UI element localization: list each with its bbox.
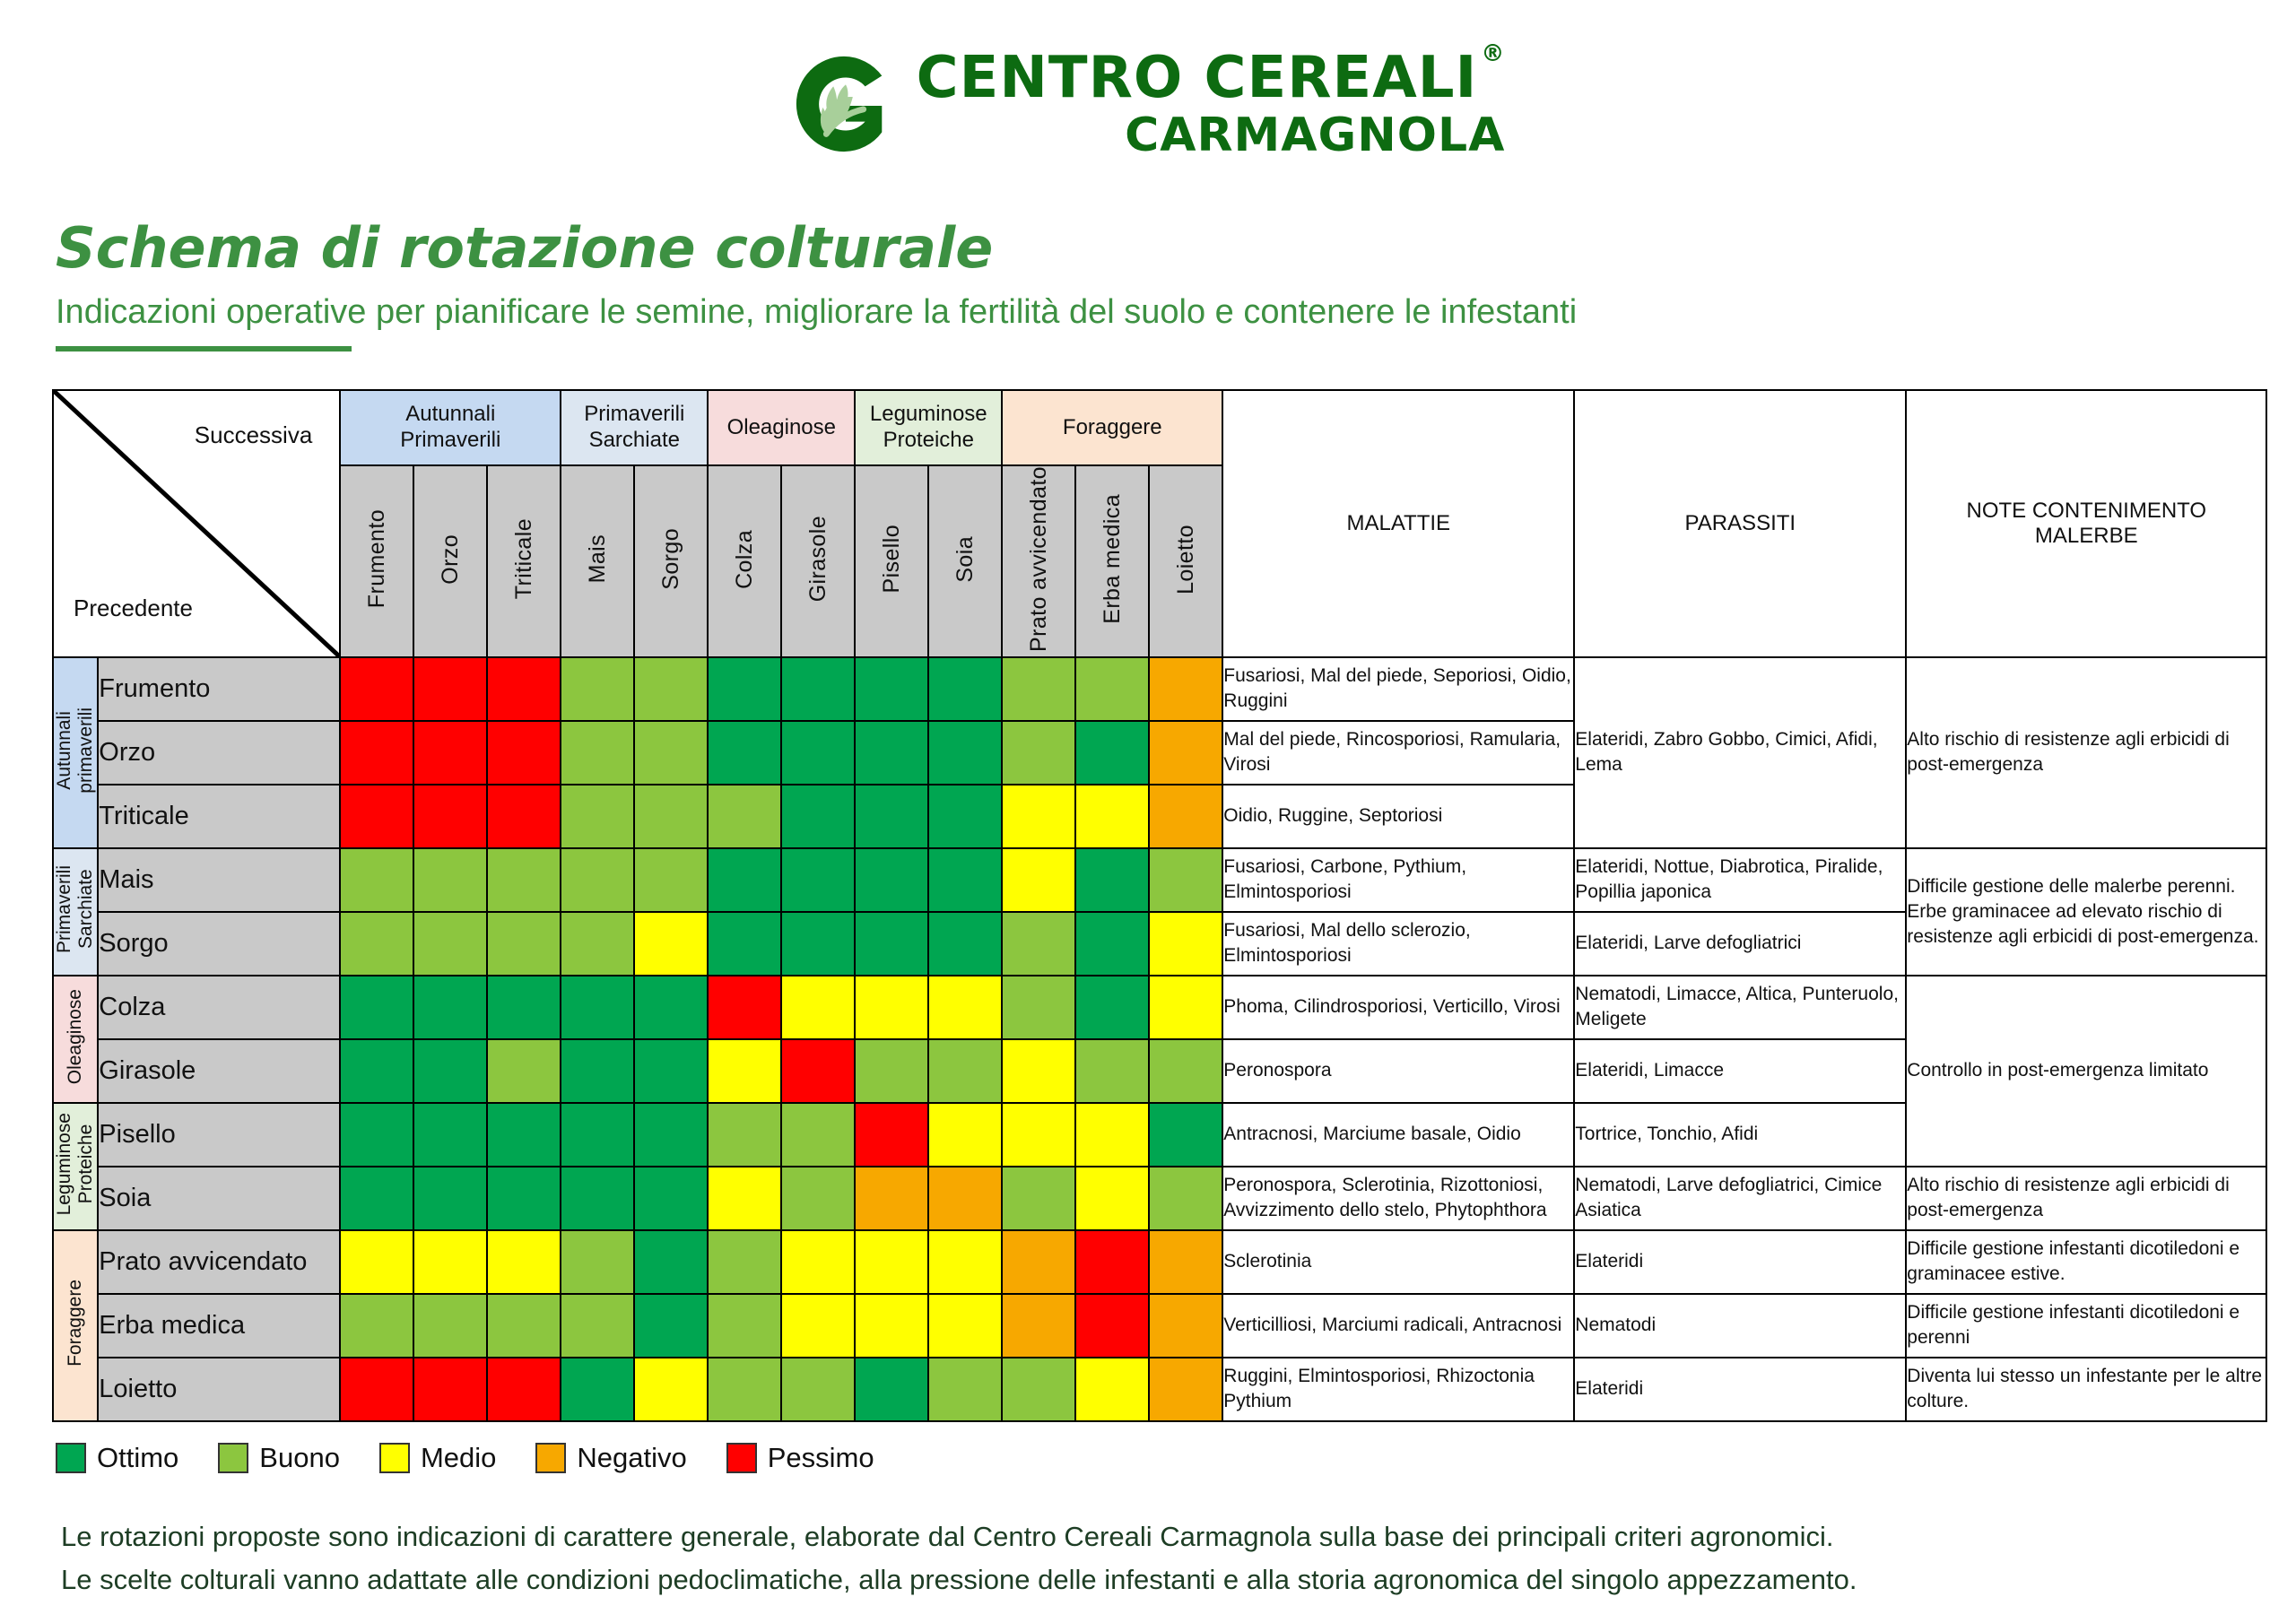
matrix-cell[interactable] [781,721,855,785]
matrix-cell[interactable] [708,785,781,848]
legend-item-ottimo: Ottimo [56,1442,178,1474]
matrix-cell[interactable] [561,1167,634,1230]
rotation-matrix-table: SuccessivaPrecedenteAutunnaliPrimaverili… [52,389,2267,1422]
parassiti-cell: Elateridi, Larve defogliatrici [1574,912,1906,976]
matrix-cell[interactable] [708,1358,781,1421]
matrix-cell[interactable] [1002,848,1075,912]
row-group-header: Oleaginose [53,976,98,1103]
legend-swatch-pessimo [726,1443,757,1473]
note-malerbe-cell: Difficile gestione infestanti dicotiledo… [1906,1294,2266,1358]
matrix-cell[interactable] [928,912,1002,976]
matrix-cell[interactable] [1149,1294,1222,1358]
page-subtitle: Indicazioni operative per pianificare le… [56,293,1577,332]
column-header-label: Frumento [364,509,390,608]
brand-name-line2: CARMAGNOLA [917,112,1506,159]
matrix-cell[interactable] [1002,1230,1075,1294]
matrix-cell[interactable] [855,848,928,912]
malattie-cell: Oidio, Ruggine, Septoriosi [1222,785,1574,848]
row-group-label: PrimaveriliSarchiate [54,865,97,953]
row-group-header: Foraggere [53,1230,98,1421]
matrix-cell[interactable] [340,912,413,976]
matrix-cell[interactable] [340,976,413,1039]
note-malerbe-column-header: NOTE CONTENIMENTOMALERBE [1906,390,2266,657]
column-header-label: Pisello [879,525,905,593]
matrix-cell[interactable] [1002,1167,1075,1230]
malattie-cell: Fusariosi, Mal dello sclerozio, Elmintos… [1222,912,1574,976]
matrix-cell[interactable] [561,912,634,976]
note-malerbe-cell: Alto rischio di resistenze agli erbicidi… [1906,657,2266,848]
row-label-loietto: Loietto [98,1358,340,1421]
parassiti-cell: Elateridi, Nottue, Diabrotica, Piralide,… [1574,848,1906,912]
note-malerbe-cell: Alto rischio di resistenze agli erbicidi… [1906,1167,2266,1230]
matrix-cell[interactable] [1075,912,1149,976]
matrix-cell[interactable] [928,1230,1002,1294]
matrix-cell[interactable] [781,657,855,721]
matrix-cell[interactable] [928,721,1002,785]
legend-swatch-buono [218,1443,248,1473]
row-group-label: Oleaginose [65,989,86,1084]
matrix-cell[interactable] [928,1103,1002,1167]
matrix-cell[interactable] [855,912,928,976]
matrix-cell[interactable] [781,848,855,912]
footnote-line-1: Le rotazioni proposte sono indicazioni d… [61,1515,1857,1558]
footnote: Le rotazioni proposte sono indicazioni d… [61,1515,1857,1601]
matrix-cell[interactable] [781,1167,855,1230]
parassiti-column-header: PARASSITI [1574,390,1906,657]
matrix-cell[interactable] [855,976,928,1039]
matrix-cell[interactable] [928,976,1002,1039]
matrix-cell[interactable] [781,976,855,1039]
matrix-cell[interactable] [855,1039,928,1103]
matrix-cell[interactable] [781,1103,855,1167]
matrix-cell[interactable] [561,1103,634,1167]
matrix-cell[interactable] [487,721,561,785]
parassiti-cell: Nematodi [1574,1294,1906,1358]
matrix-cell[interactable] [634,785,708,848]
table-row: ForaggerePrato avvicendatoSclerotiniaEla… [53,1230,2266,1294]
malattie-cell: Sclerotinia [1222,1230,1574,1294]
note-malerbe-cell: Difficile gestione delle malerbe perenni… [1906,848,2266,976]
matrix-cell[interactable] [1002,1039,1075,1103]
matrix-cell[interactable] [413,1294,487,1358]
matrix-cell[interactable] [781,912,855,976]
parassiti-cell: Nematodi, Limacce, Altica, Punteruolo, M… [1574,976,1906,1039]
column-header-prato-avvicendato: Prato avvicendato [1002,465,1075,657]
matrix-cell[interactable] [413,1358,487,1421]
column-group-header: Oleaginose [708,390,855,465]
column-header-label: Orzo [438,534,464,585]
matrix-cell[interactable] [855,657,928,721]
axis-label-precedente: Precedente [74,595,193,622]
matrix-cell[interactable] [340,1167,413,1230]
matrix-cell[interactable] [1075,657,1149,721]
table-row: PrimaveriliSarchiateMaisFusariosi, Carbo… [53,848,2266,912]
parassiti-cell: Tortrice, Tonchio, Afidi [1574,1103,1906,1167]
column-header-erba-medica: Erba medica [1075,465,1149,657]
matrix-cell[interactable] [413,912,487,976]
matrix-cell[interactable] [781,1230,855,1294]
matrix-cell[interactable] [487,1230,561,1294]
matrix-cell[interactable] [708,848,781,912]
column-header-label: Loietto [1173,525,1199,595]
matrix-cell[interactable] [1149,1358,1222,1421]
matrix-cell[interactable] [1149,976,1222,1039]
matrix-cell[interactable] [1075,1039,1149,1103]
column-header-loietto: Loietto [1149,465,1222,657]
matrix-cell[interactable] [340,785,413,848]
matrix-cell[interactable] [1002,976,1075,1039]
matrix-cell[interactable] [708,912,781,976]
matrix-cell[interactable] [1149,1039,1222,1103]
header-row-groups: SuccessivaPrecedenteAutunnaliPrimaverili… [53,390,2266,465]
matrix-cell[interactable] [340,721,413,785]
note-malerbe-cell: Controllo in post-emergenza limitato [1906,976,2266,1167]
legend-label: Ottimo [97,1442,178,1474]
row-label-triticale: Triticale [98,785,340,848]
row-group-label: Foraggere [65,1280,86,1367]
table-row: OleaginoseColzaPhoma, Cilindrosporiosi, … [53,976,2266,1039]
matrix-cell[interactable] [781,1294,855,1358]
axis-corner-cell: SuccessivaPrecedente [53,390,340,657]
table-row: AutunnaliprimaveriliFrumentoFusariosi, M… [53,657,2266,721]
row-label-orzo: Orzo [98,721,340,785]
matrix-cell[interactable] [1149,912,1222,976]
matrix-cell[interactable] [1075,721,1149,785]
malattie-cell: Peronospora [1222,1039,1574,1103]
row-label-mais: Mais [98,848,340,912]
matrix-cell[interactable] [340,1294,413,1358]
matrix-cell[interactable] [561,721,634,785]
matrix-cell[interactable] [561,657,634,721]
matrix-cell[interactable] [487,785,561,848]
matrix-cell[interactable] [781,1358,855,1421]
column-header-label: Sorgo [658,528,684,590]
footnote-line-2: Le scelte colturali vanno adattate alle … [61,1558,1857,1601]
legend-label: Medio [421,1442,496,1474]
malattie-cell: Phoma, Cilindrosporiosi, Verticillo, Vir… [1222,976,1574,1039]
column-header-colza: Colza [708,465,781,657]
matrix-cell[interactable] [340,1230,413,1294]
matrix-cell[interactable] [340,1103,413,1167]
row-label-erba-medica: Erba medica [98,1294,340,1358]
matrix-cell[interactable] [928,785,1002,848]
poster-root: CENTRO CEREALI® CARMAGNOLA Schema di rot… [0,0,2296,1623]
matrix-cell[interactable] [487,1039,561,1103]
matrix-cell[interactable] [487,1294,561,1358]
matrix-cell[interactable] [487,976,561,1039]
column-header-label: Mais [585,534,611,583]
matrix-cell[interactable] [1075,1103,1149,1167]
table-row: Erba medicaVerticilliosi, Marciumi radic… [53,1294,2266,1358]
legend-item-medio: Medio [379,1442,496,1474]
registered-mark-icon: ® [1481,40,1505,67]
matrix-cell[interactable] [634,1230,708,1294]
matrix-cell[interactable] [561,848,634,912]
matrix-cell[interactable] [413,848,487,912]
matrix-cell[interactable] [1075,976,1149,1039]
matrix-cell[interactable] [928,1167,1002,1230]
matrix-cell[interactable] [708,1103,781,1167]
column-header-label: Triticale [511,518,537,599]
matrix-cell[interactable] [855,721,928,785]
row-label-sorgo: Sorgo [98,912,340,976]
row-label-soia: Soia [98,1167,340,1230]
matrix-cell[interactable] [634,976,708,1039]
malattie-cell: Mal del piede, Rincosporiosi, Ramularia,… [1222,721,1574,785]
matrix-cell[interactable] [634,848,708,912]
matrix-cell[interactable] [855,1103,928,1167]
matrix-cell[interactable] [1149,657,1222,721]
legend-item-pessimo: Pessimo [726,1442,874,1474]
matrix-cell[interactable] [413,1230,487,1294]
table-row: SoiaPeronospora, Sclerotinia, Rizottonio… [53,1167,2266,1230]
matrix-cell[interactable] [1002,1103,1075,1167]
matrix-cell[interactable] [634,1103,708,1167]
matrix-cell[interactable] [413,657,487,721]
note-malerbe-cell: Diventa lui stesso un infestante per le … [1906,1358,2266,1421]
legend-swatch-negativo [535,1443,566,1473]
legend-swatch-medio [379,1443,410,1473]
row-group-header: LeguminoseProteiche [53,1103,98,1230]
title-underline [56,346,352,352]
matrix-cell[interactable] [413,1167,487,1230]
matrix-cell[interactable] [1002,1294,1075,1358]
matrix-cell[interactable] [708,1167,781,1230]
malattie-cell: Peronospora, Sclerotinia, Rizottoniosi, … [1222,1167,1574,1230]
matrix-cell[interactable] [781,1039,855,1103]
matrix-cell[interactable] [561,1294,634,1358]
column-header-label: Erba medica [1100,494,1126,624]
column-header-label: Colza [732,530,758,589]
matrix-cell[interactable] [561,976,634,1039]
matrix-cell[interactable] [1002,657,1075,721]
malattie-cell: Fusariosi, Mal del piede, Seporiosi, Oid… [1222,657,1574,721]
row-label-prato-avvicendato: Prato avvicendato [98,1230,340,1294]
matrix-cell[interactable] [1002,912,1075,976]
matrix-cell[interactable] [634,1294,708,1358]
note-malerbe-cell: Difficile gestione infestanti dicotiledo… [1906,1230,2266,1294]
matrix-cell[interactable] [928,1294,1002,1358]
row-label-girasole: Girasole [98,1039,340,1103]
matrix-cell[interactable] [1002,721,1075,785]
matrix-cell[interactable] [413,976,487,1039]
matrix-cell[interactable] [634,1167,708,1230]
matrix-cell[interactable] [413,721,487,785]
column-header-label: Girasole [805,516,831,602]
column-group-header: Foraggere [1002,390,1222,465]
matrix-cell[interactable] [487,848,561,912]
matrix-cell[interactable] [1075,785,1149,848]
brand-logo: CENTRO CEREALI® CARMAGNOLA [0,49,2296,159]
matrix-cell[interactable] [1149,785,1222,848]
column-header-soia: Soia [928,465,1002,657]
parassiti-cell: Elateridi, Limacce [1574,1039,1906,1103]
column-header-triticale: Triticale [487,465,561,657]
centro-cereali-logo-icon [791,51,897,157]
matrix-cell[interactable] [855,1358,928,1421]
brand-name-primary: CENTRO CEREALI [917,45,1478,111]
column-header-pisello: Pisello [855,465,928,657]
legend-label: Negativo [577,1442,686,1474]
legend-label: Buono [259,1442,340,1474]
matrix-cell[interactable] [928,1039,1002,1103]
matrix-cell[interactable] [413,1103,487,1167]
malattie-cell: Fusariosi, Carbone, Pythium, Elmintospor… [1222,848,1574,912]
matrix-cell[interactable] [708,657,781,721]
matrix-cell[interactable] [561,785,634,848]
column-header-orzo: Orzo [413,465,487,657]
matrix-cell[interactable] [781,785,855,848]
legend-item-buono: Buono [218,1442,340,1474]
malattie-column-header: MALATTIE [1222,390,1574,657]
matrix-cell[interactable] [340,1039,413,1103]
brand-name-line1: CENTRO CEREALI® [917,49,1506,107]
matrix-cell[interactable] [634,721,708,785]
parassiti-cell: Nematodi, Larve defogliatrici, Cimice As… [1574,1167,1906,1230]
matrix-cell[interactable] [561,1358,634,1421]
matrix-cell[interactable] [708,1230,781,1294]
matrix-cell[interactable] [487,657,561,721]
matrix-cell[interactable] [1075,1230,1149,1294]
row-group-header: Autunnaliprimaverili [53,657,98,848]
matrix-cell[interactable] [487,1358,561,1421]
table-row: LoiettoRuggini, Elmintosporiosi, Rhizoct… [53,1358,2266,1421]
matrix-cell[interactable] [855,1167,928,1230]
matrix-cell[interactable] [1075,1358,1149,1421]
column-header-label: Soia [952,536,978,583]
parassiti-cell: Elateridi [1574,1230,1906,1294]
legend: OttimoBuonoMedioNegativoPessimo [56,1442,874,1474]
legend-swatch-ottimo [56,1443,86,1473]
column-group-header: LeguminoseProteiche [855,390,1002,465]
column-header-frumento: Frumento [340,465,413,657]
malattie-cell: Ruggini, Elmintosporiosi, Rhizoctonia Py… [1222,1358,1574,1421]
matrix-cell[interactable] [487,1103,561,1167]
matrix-cell[interactable] [1075,1167,1149,1230]
row-group-label: Autunnaliprimaverili [54,707,97,794]
matrix-cell[interactable] [487,1167,561,1230]
column-header-mais: Mais [561,465,634,657]
matrix-cell[interactable] [634,1358,708,1421]
row-label-frumento: Frumento [98,657,340,721]
matrix-cell[interactable] [1149,721,1222,785]
matrix-cell[interactable] [1002,1358,1075,1421]
row-group-header: PrimaveriliSarchiate [53,848,98,976]
matrix-cell[interactable] [708,1039,781,1103]
row-group-label: LeguminoseProteiche [54,1113,97,1215]
matrix-cell[interactable] [855,785,928,848]
matrix-cell[interactable] [340,848,413,912]
matrix-cell[interactable] [561,1039,634,1103]
matrix-cell[interactable] [340,1358,413,1421]
matrix-cell[interactable] [634,912,708,976]
matrix-cell[interactable] [1002,785,1075,848]
matrix-cell[interactable] [487,912,561,976]
column-group-header: PrimaveriliSarchiate [561,390,708,465]
matrix-cell[interactable] [855,1230,928,1294]
matrix-cell[interactable] [708,1294,781,1358]
matrix-cell[interactable] [634,1039,708,1103]
matrix-cell[interactable] [855,1294,928,1358]
matrix-cell[interactable] [413,1039,487,1103]
matrix-cell[interactable] [708,976,781,1039]
row-label-colza: Colza [98,976,340,1039]
matrix-cell[interactable] [1149,1103,1222,1167]
legend-item-negativo: Negativo [535,1442,686,1474]
column-header-sorgo: Sorgo [634,465,708,657]
parassiti-cell: Elateridi [1574,1358,1906,1421]
matrix-cell[interactable] [928,848,1002,912]
matrix-cell[interactable] [708,721,781,785]
malattie-cell: Antracnosi, Marciume basale, Oidio [1222,1103,1574,1167]
matrix-cell[interactable] [340,657,413,721]
legend-label: Pessimo [768,1442,874,1474]
matrix-cell[interactable] [1075,848,1149,912]
matrix-cell[interactable] [1149,848,1222,912]
column-group-header: AutunnaliPrimaverili [340,390,561,465]
parassiti-cell: Elateridi, Zabro Gobbo, Cimici, Afidi, L… [1574,657,1906,848]
matrix-cell[interactable] [413,785,487,848]
matrix-cell[interactable] [1149,1167,1222,1230]
column-header-label: Prato avvicendato [1026,466,1052,652]
matrix-cell[interactable] [634,657,708,721]
row-label-pisello: Pisello [98,1103,340,1167]
matrix-cell[interactable] [928,1358,1002,1421]
axis-label-successiva: Successiva [195,421,313,449]
matrix-cell[interactable] [928,657,1002,721]
matrix-cell[interactable] [561,1230,634,1294]
malattie-cell: Verticilliosi, Marciumi radicali, Antrac… [1222,1294,1574,1358]
matrix-cell[interactable] [1075,1294,1149,1358]
column-header-girasole: Girasole [781,465,855,657]
matrix-cell[interactable] [1149,1230,1222,1294]
title-block: Schema di rotazione colturale Indicazion… [56,215,1577,352]
page-title: Schema di rotazione colturale [56,215,1577,281]
